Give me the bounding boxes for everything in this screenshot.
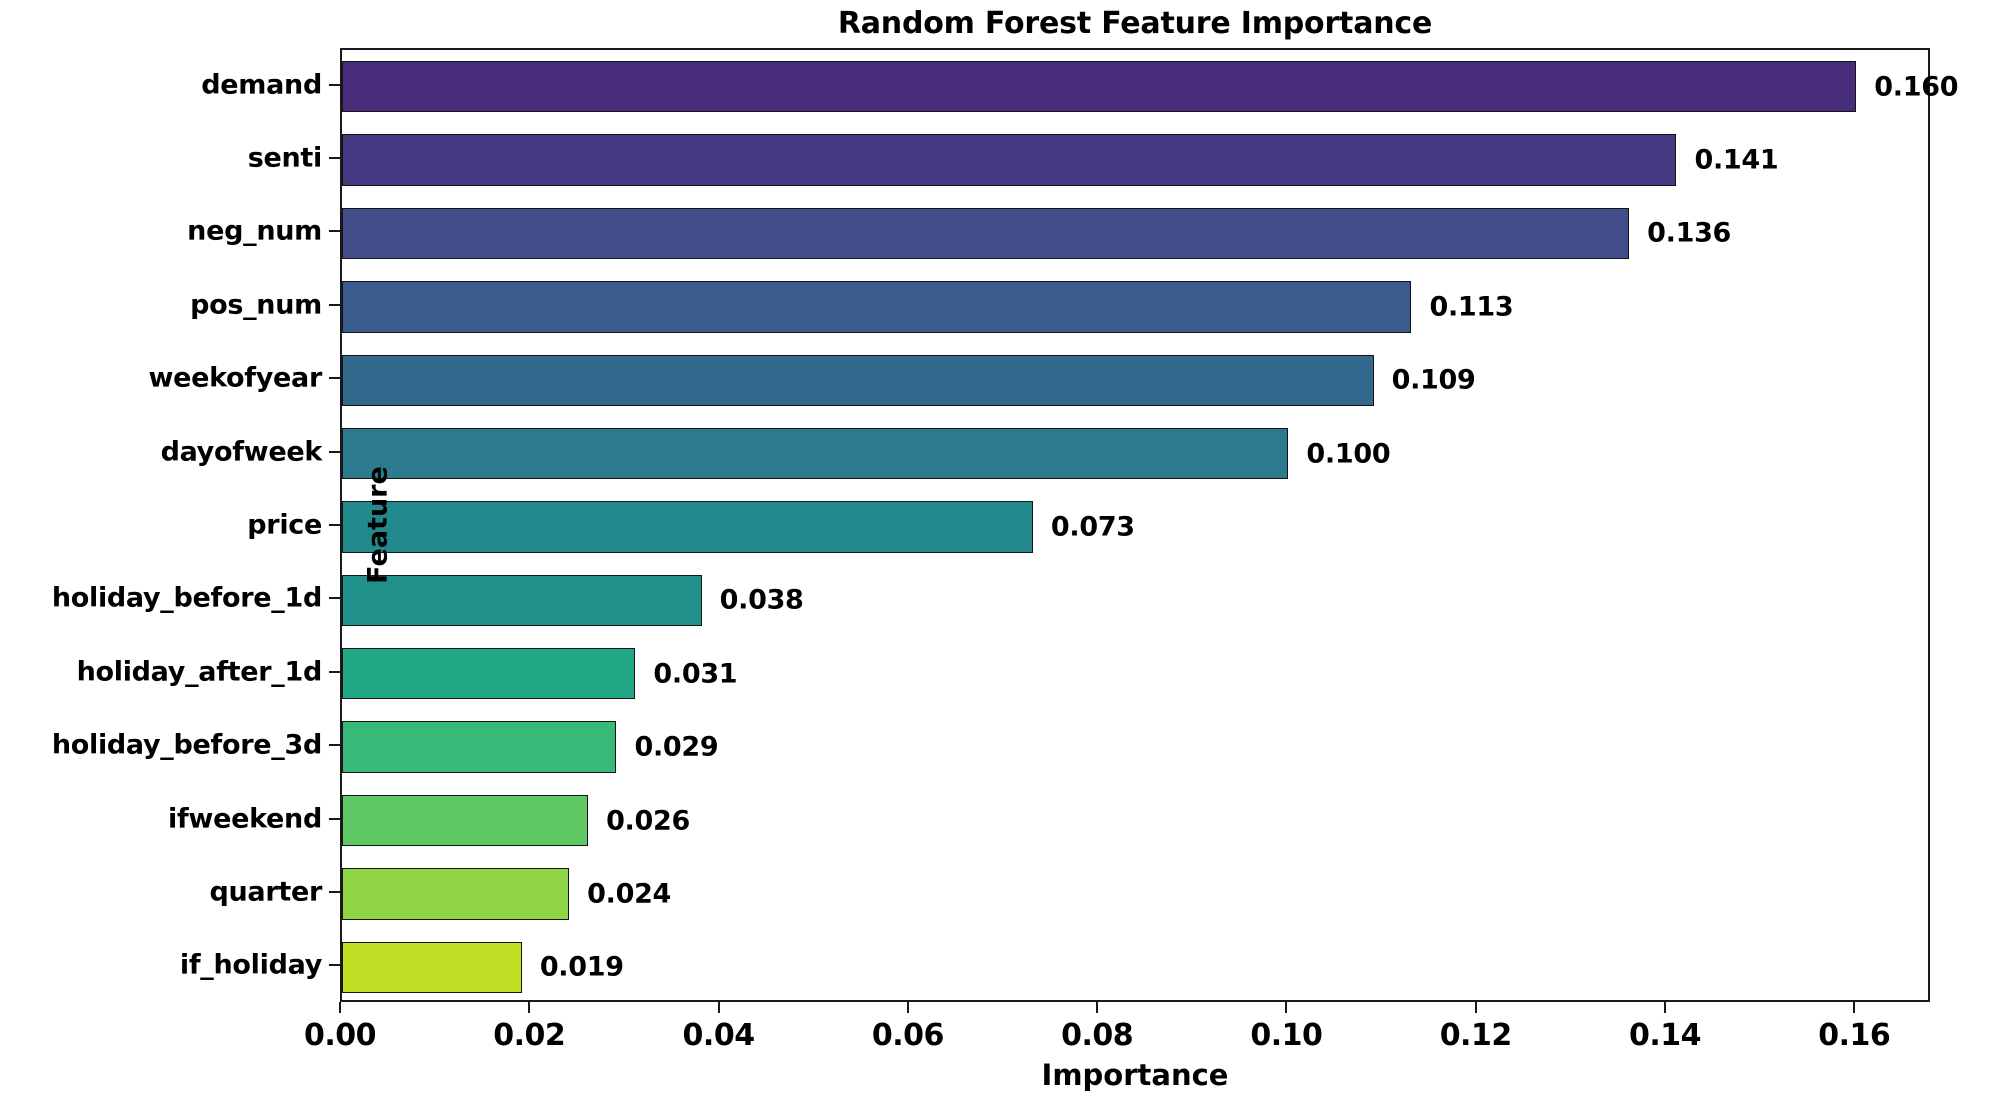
bar-row: 0.026 [342, 795, 1928, 846]
x-tick-mark [907, 1002, 909, 1013]
bar-value-label: 0.038 [720, 585, 804, 616]
x-axis-label: Importance [340, 1058, 1930, 1092]
bar-value-label: 0.136 [1647, 218, 1731, 249]
plot-area: 0.1600.1410.1360.1130.1090.1000.0730.038… [340, 48, 1930, 1002]
bar-pos_num[interactable] [342, 281, 1411, 332]
bar-value-label: 0.073 [1051, 511, 1135, 542]
bar-holiday_after_1d[interactable] [342, 648, 635, 699]
y-tick-label-holiday_before_3d: holiday_before_3d [52, 730, 322, 761]
y-tick-mark [329, 157, 340, 159]
y-tick-mark [329, 230, 340, 232]
x-tick-label-0.06: 0.06 [872, 1018, 944, 1053]
y-tick-mark [329, 671, 340, 673]
bar-value-label: 0.113 [1429, 291, 1513, 322]
x-tick-label-0.12: 0.12 [1440, 1018, 1512, 1053]
bar-demand[interactable] [342, 61, 1856, 112]
x-tick-label-0.04: 0.04 [683, 1018, 755, 1053]
bar-value-label: 0.160 [1874, 71, 1958, 102]
x-tick-label-0.00: 0.00 [304, 1018, 376, 1053]
y-tick-label-holiday_before_1d: holiday_before_1d [52, 583, 322, 614]
bar-value-label: 0.109 [1392, 365, 1476, 396]
bar-value-label: 0.024 [587, 878, 671, 909]
y-tick-label-ifweekend: ifweekend [168, 803, 322, 834]
x-tick-label-0.16: 0.16 [1818, 1018, 1890, 1053]
bar-senti[interactable] [342, 134, 1676, 185]
bar-value-label: 0.019 [540, 952, 624, 983]
y-tick-mark [329, 377, 340, 379]
x-tick-mark [1096, 1002, 1098, 1013]
bar-row: 0.073 [342, 501, 1928, 552]
x-tick-mark [1853, 1002, 1855, 1013]
y-tick-label-price: price [247, 510, 322, 541]
bar-value-label: 0.100 [1306, 438, 1390, 469]
x-tick-mark [1475, 1002, 1477, 1013]
x-tick-label-0.02: 0.02 [493, 1018, 565, 1053]
x-tick-label-0.14: 0.14 [1629, 1018, 1701, 1053]
bar-dayofweek[interactable] [342, 428, 1288, 479]
bar-row: 0.029 [342, 721, 1928, 772]
y-tick-label-holiday_after_1d: holiday_after_1d [77, 656, 322, 687]
y-tick-mark [329, 744, 340, 746]
bar-row: 0.109 [342, 355, 1928, 406]
y-tick-mark [329, 891, 340, 893]
y-tick-mark [329, 304, 340, 306]
bar-row: 0.136 [342, 208, 1928, 259]
bar-holiday_before_1d[interactable] [342, 575, 702, 626]
y-tick-mark [329, 524, 340, 526]
bar-price[interactable] [342, 501, 1033, 552]
y-tick-label-pos_num: pos_num [190, 289, 322, 320]
y-tick-label-demand: demand [201, 69, 322, 100]
x-tick-label-0.10: 0.10 [1250, 1018, 1322, 1053]
bar-quarter[interactable] [342, 868, 569, 919]
bar-holiday_before_3d[interactable] [342, 721, 616, 772]
bar-row: 0.100 [342, 428, 1928, 479]
y-tick-mark [329, 597, 340, 599]
bar-ifweekend[interactable] [342, 795, 588, 846]
x-tick-mark [528, 1002, 530, 1013]
y-tick-label-quarter: quarter [209, 876, 322, 907]
x-tick-mark [1285, 1002, 1287, 1013]
y-tick-label-neg_num: neg_num [187, 216, 322, 247]
y-tick-label-senti: senti [248, 143, 322, 174]
bar-if_holiday[interactable] [342, 942, 522, 993]
bars-layer: 0.1600.1410.1360.1130.1090.1000.0730.038… [342, 50, 1928, 1000]
bar-row: 0.038 [342, 575, 1928, 626]
y-tick-label-weekofyear: weekofyear [148, 363, 322, 394]
chart-title: Random Forest Feature Importance [340, 6, 1930, 41]
y-tick-mark [329, 818, 340, 820]
x-tick-mark [1664, 1002, 1666, 1013]
x-tick-label-0.08: 0.08 [1061, 1018, 1133, 1053]
y-tick-label-if_holiday: if_holiday [180, 950, 322, 981]
y-tick-mark [329, 964, 340, 966]
bar-neg_num[interactable] [342, 208, 1629, 259]
figure-canvas: Random Forest Feature Importance 0.1600.… [0, 0, 2000, 1112]
bar-row: 0.024 [342, 868, 1928, 919]
bar-weekofyear[interactable] [342, 355, 1374, 406]
bar-value-label: 0.141 [1694, 145, 1778, 176]
y-tick-label-dayofweek: dayofweek [161, 436, 322, 467]
bar-row: 0.160 [342, 61, 1928, 112]
bar-row: 0.141 [342, 134, 1928, 185]
x-tick-mark [718, 1002, 720, 1013]
bar-value-label: 0.031 [653, 658, 737, 689]
bar-row: 0.019 [342, 942, 1928, 993]
y-tick-mark [329, 84, 340, 86]
bar-row: 0.031 [342, 648, 1928, 699]
bar-row: 0.113 [342, 281, 1928, 332]
y-tick-mark [329, 451, 340, 453]
x-tick-mark [339, 1002, 341, 1013]
bar-value-label: 0.026 [606, 805, 690, 836]
bar-value-label: 0.029 [634, 732, 718, 763]
y-axis-label: Feature [363, 425, 394, 625]
